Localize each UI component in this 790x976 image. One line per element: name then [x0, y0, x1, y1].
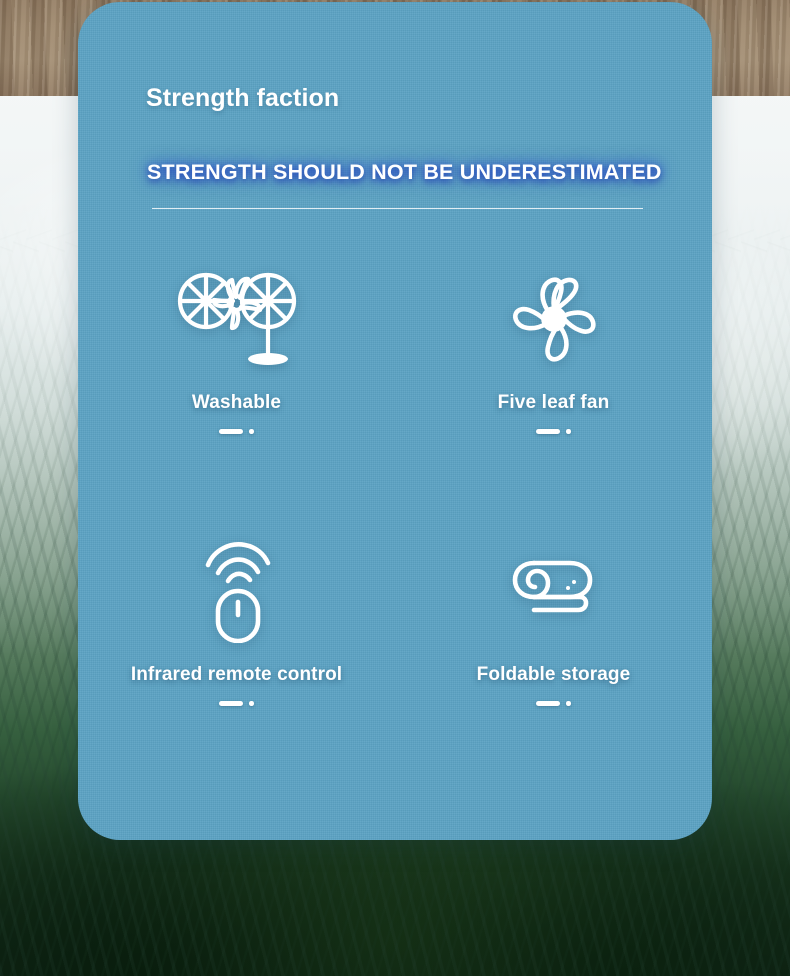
- marker-bar: [219, 429, 243, 434]
- feature-card: Strength faction STRENGTH SHOULD NOT BE …: [78, 2, 712, 840]
- feature-item-washable: Washable: [78, 260, 395, 474]
- feature-item-infrared-remote: Infrared remote control: [78, 532, 395, 746]
- marker-dot: [566, 701, 571, 706]
- feature-item-five-leaf-fan: Five leaf fan: [395, 260, 712, 474]
- product-feature-banner: Strength faction STRENGTH SHOULD NOT BE …: [0, 0, 790, 976]
- feature-grid: Washable: [78, 260, 712, 746]
- feature-marker: [536, 701, 571, 706]
- feature-marker: [536, 429, 571, 434]
- marker-dot: [566, 429, 571, 434]
- feature-marker: [219, 429, 254, 434]
- page-title: Strength faction: [146, 84, 339, 113]
- washable-fan-icon: [176, 260, 298, 378]
- card-subtitle: STRENGTH SHOULD NOT BE UNDERESTIMATED: [147, 160, 662, 185]
- marker-bar: [219, 701, 243, 706]
- infrared-remote-control-icon: [200, 532, 274, 650]
- feature-label: Foldable storage: [477, 664, 631, 686]
- feature-marker: [219, 701, 254, 706]
- marker-bar: [536, 429, 560, 434]
- marker-dot: [249, 701, 254, 706]
- feature-item-foldable-storage: Foldable storage: [395, 532, 712, 746]
- foldable-rolled-mat-icon: [508, 532, 600, 650]
- five-leaf-fan-blade-icon: [505, 260, 603, 378]
- feature-label: Washable: [192, 392, 281, 414]
- marker-bar: [536, 701, 560, 706]
- marker-dot: [249, 429, 254, 434]
- feature-label: Infrared remote control: [131, 664, 342, 686]
- feature-label: Five leaf fan: [498, 392, 610, 414]
- header-divider: [152, 208, 643, 209]
